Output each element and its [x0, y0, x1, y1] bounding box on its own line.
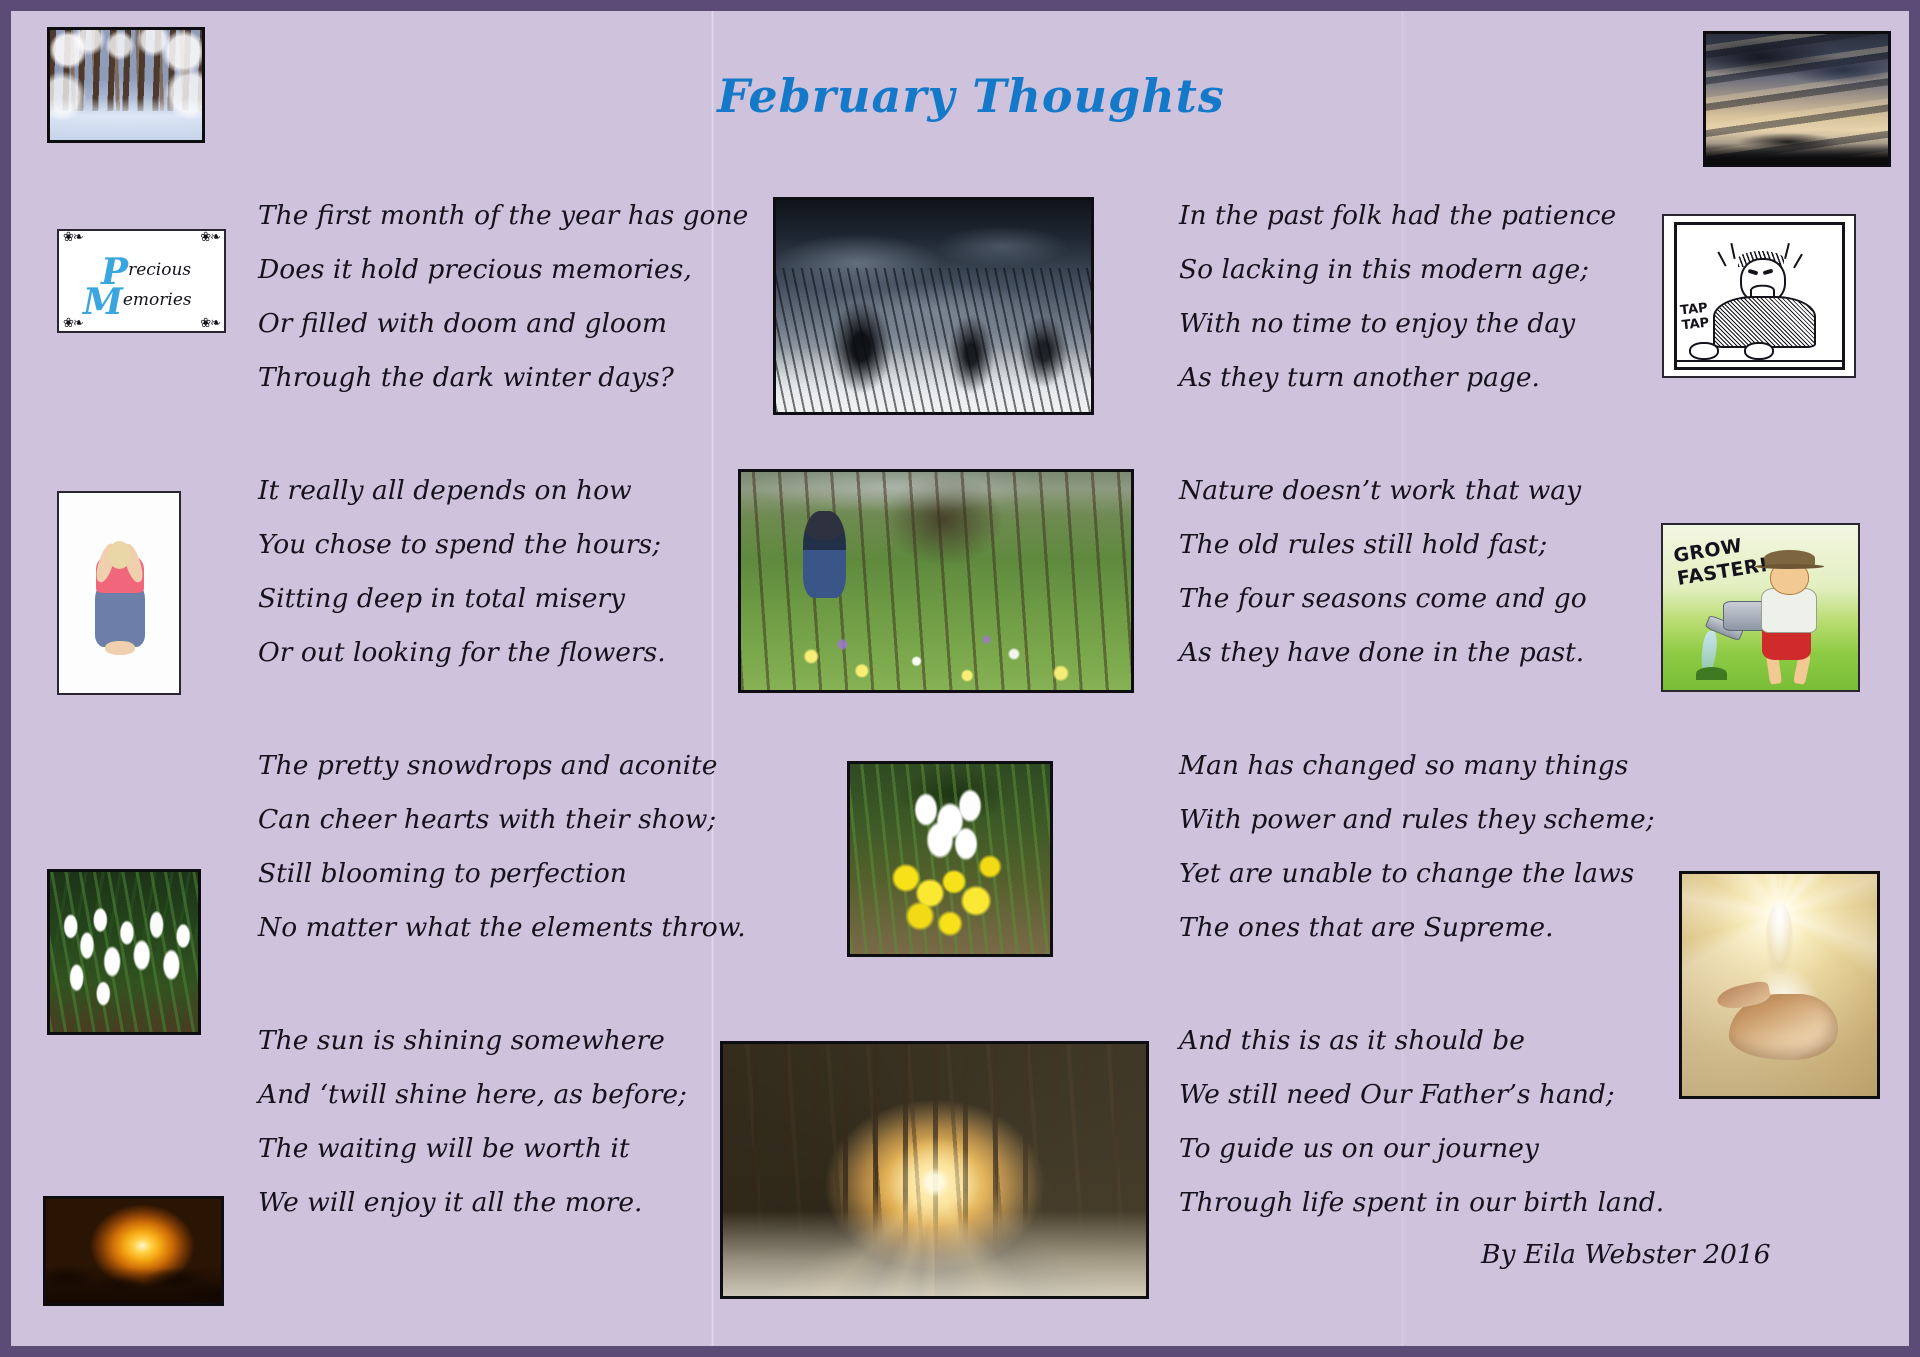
cartoon-desk-edge: [1674, 360, 1845, 362]
poem-line: The pretty snowdrops and aconite: [258, 739, 746, 793]
figure-head: [108, 541, 131, 569]
poem-line: Does it hold precious memories,: [258, 243, 748, 297]
logo-precious-tail: recious: [128, 260, 191, 280]
image-grow-faster: GROW FASTER!: [1661, 523, 1860, 692]
cartoon-hand-left: [1689, 342, 1720, 360]
dramatic-sky-art: [1706, 34, 1888, 164]
image-sunset-clouds: [43, 1196, 224, 1306]
snowdrops-art: [50, 872, 198, 1032]
poem-line: Man has changed so many things: [1179, 739, 1655, 793]
poem-line: In the past folk had the patience: [1179, 189, 1616, 243]
logo-initial-m: M: [83, 281, 123, 323]
stanza-left-2: It really all depends on how You chose t…: [258, 464, 666, 680]
poem-line: We still need Our Father’s hand;: [1179, 1068, 1664, 1122]
logo-word-memories: Memories: [83, 281, 192, 323]
image-snowdrops-aconite: [847, 761, 1053, 957]
poem-line: No matter what the elements throw.: [258, 901, 746, 955]
garden-man-art: [741, 472, 1131, 690]
poem-line: And this is as it should be: [1179, 1014, 1664, 1068]
sad-woman-art: [59, 493, 179, 693]
cartoon-frown-mouth: [1750, 285, 1775, 297]
poem-line: Or filled with doom and gloom: [258, 297, 748, 351]
author-credit: By Eila Webster 2016: [1481, 1239, 1771, 1270]
image-sad-woman: [57, 491, 181, 695]
poem-line: Yet are unable to change the laws: [1179, 847, 1655, 901]
image-stormy-tree: [773, 197, 1094, 415]
cartoon-hand-right: [1744, 342, 1775, 360]
poem-line: As they turn another page.: [1179, 351, 1616, 405]
gardener-figure: [803, 511, 846, 598]
divine-hand-art: [1682, 874, 1877, 1096]
poem-line: The sun is shining somewhere: [258, 1014, 687, 1068]
sunrise-road-art: [723, 1044, 1146, 1296]
image-tap-tap-man: TAP TAP: [1662, 214, 1856, 378]
stanza-left-3: The pretty snowdrops and aconite Can che…: [258, 739, 746, 955]
stanza-right-1: In the past folk had the patience So lac…: [1179, 189, 1616, 405]
poem-line: The ones that are Supreme.: [1179, 901, 1655, 955]
poem-line: Through the dark winter days?: [258, 351, 748, 405]
flourish-icon: ❀❧: [63, 319, 83, 329]
stanza-left-1: The first month of the year has gone Doe…: [258, 189, 748, 405]
sunset-clouds-art: [46, 1199, 221, 1303]
poem-line: With no time to enjoy the day: [1179, 297, 1616, 351]
flourish-icon: ❀❧: [63, 233, 83, 243]
poem-line: So lacking in this modern age;: [1179, 243, 1616, 297]
poem-line: The old rules still hold fast;: [1179, 518, 1587, 572]
image-precious-memories: ❀❧ ❀❧ ❀❧ ❀❧ Precious Memories: [57, 229, 226, 333]
tap-tap-man-art: TAP TAP: [1664, 216, 1854, 376]
cartoon-torso: [1713, 296, 1816, 348]
image-garden-man: [738, 469, 1134, 693]
stanza-left-4: The sun is shining somewhere And ‘twill …: [258, 1014, 687, 1230]
snowy-forest-art: [50, 30, 202, 140]
poem-line: Sitting deep in total misery: [258, 572, 666, 626]
poem-page: February Thoughts ❀❧ ❀❧ ❀❧ ❀❧ Precious M…: [0, 0, 1920, 1357]
poem-line: Or out looking for the flowers.: [258, 626, 666, 680]
page-title: February Thoughts: [11, 69, 1920, 123]
poem-line: As they have done in the past.: [1179, 626, 1587, 680]
poem-line: To guide us on our journey: [1179, 1122, 1664, 1176]
image-snowdrops: [47, 869, 201, 1035]
flourish-icon: ❀❧: [200, 319, 220, 329]
poem-line: It really all depends on how: [258, 464, 666, 518]
grow-faster-art: GROW FASTER!: [1663, 525, 1858, 690]
stanza-right-3: Man has changed so many things With powe…: [1179, 739, 1655, 955]
poem-line: And ‘twill shine here, as before;: [258, 1068, 687, 1122]
poem-line: Nature doesn’t work that way: [1179, 464, 1587, 518]
cartoon-hat: [1764, 550, 1815, 567]
poem-line: The first month of the year has gone: [258, 189, 748, 243]
precious-memories-art: ❀❧ ❀❧ ❀❧ ❀❧ Precious Memories: [59, 231, 224, 331]
logo-memories-tail: emories: [123, 290, 192, 310]
poem-line: With power and rules they scheme;: [1179, 793, 1655, 847]
stanza-right-2: Nature doesn’t work that way The old rul…: [1179, 464, 1587, 680]
image-dramatic-sky: [1703, 31, 1891, 167]
poem-line: The waiting will be worth it: [258, 1122, 687, 1176]
sprout-icon: [1696, 667, 1727, 680]
stormy-tree-art: [776, 200, 1091, 412]
snowdrops-aconite-art: [850, 764, 1050, 954]
figure-feet: [105, 641, 135, 655]
light-figure: [1766, 903, 1793, 974]
poem-line: You chose to spend the hours;: [258, 518, 666, 572]
poem-line: Through life spent in our birth land.: [1179, 1176, 1664, 1230]
image-sunrise-road: [720, 1041, 1149, 1299]
flourish-icon: ❀❧: [200, 233, 220, 243]
tap-tap-caption: TAP TAP: [1680, 301, 1710, 334]
stanza-right-4: And this is as it should be We still nee…: [1179, 1014, 1664, 1230]
image-divine-hand: [1679, 871, 1880, 1099]
poem-line: We will enjoy it all the more.: [258, 1176, 687, 1230]
image-snowy-forest: [47, 27, 205, 143]
grow-faster-caption: GROW FASTER!: [1672, 531, 1770, 591]
poem-line: Still blooming to perfection: [258, 847, 746, 901]
poem-line: Can cheer hearts with their show;: [258, 793, 746, 847]
poem-line: The four seasons come and go: [1179, 572, 1587, 626]
